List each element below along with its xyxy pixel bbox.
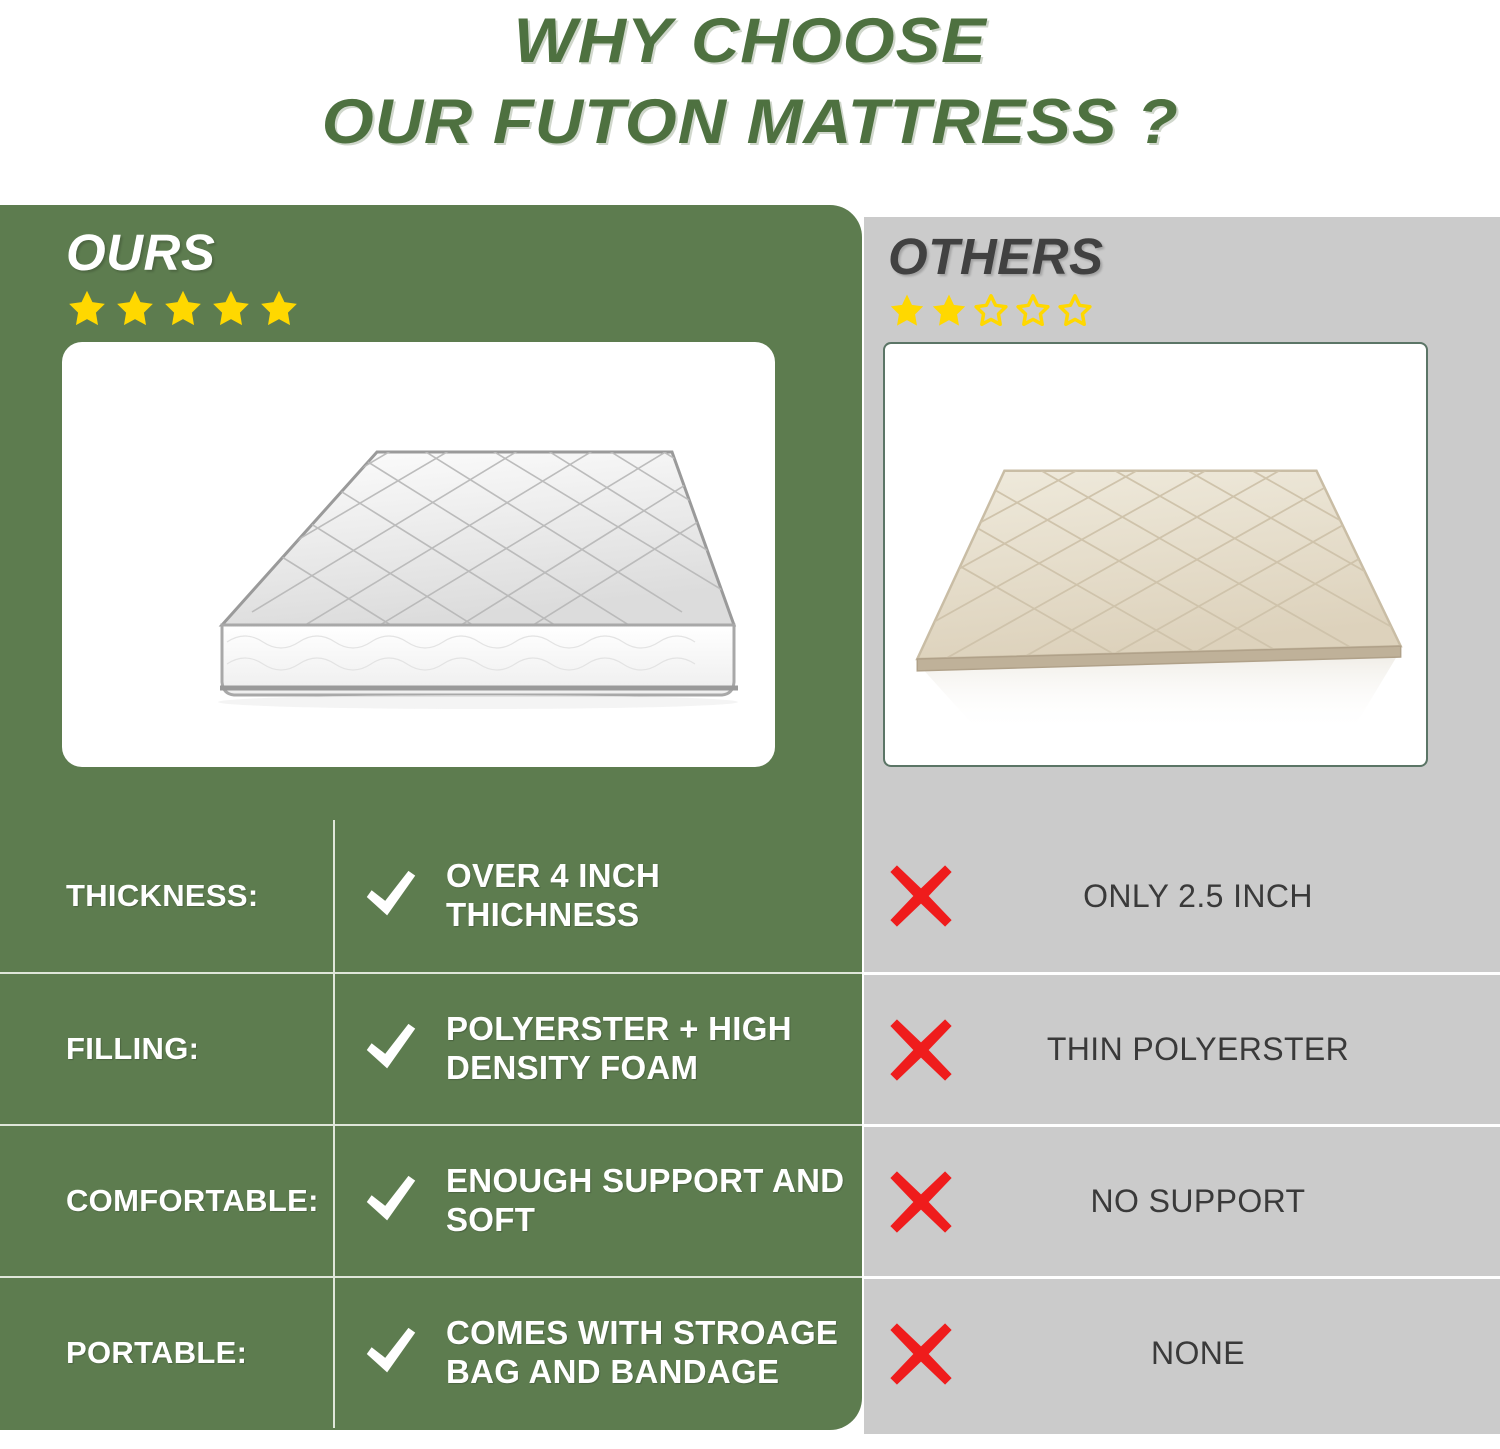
title-line-1: WHY CHOOSE bbox=[513, 10, 986, 73]
row-divider-vertical bbox=[333, 1278, 335, 1428]
check-icon bbox=[360, 865, 422, 927]
ours-feature-table: THICKNESS: OVER 4 INCH THICHNESS FILLING… bbox=[0, 820, 862, 1428]
ours-panel: OURS bbox=[0, 205, 862, 1430]
cross-icon bbox=[886, 1167, 956, 1237]
row-value-text: NONE bbox=[956, 1335, 1500, 1372]
row-label: FILLING: bbox=[0, 1031, 333, 1067]
others-heading: OTHERS bbox=[888, 231, 1104, 282]
row-value-ours: OVER 4 INCH THICHNESS bbox=[333, 857, 862, 935]
row-value-ours: ENOUGH SUPPORT AND SOFT bbox=[333, 1162, 862, 1240]
star-filled-icon bbox=[162, 288, 204, 330]
row-label: THICKNESS: bbox=[0, 878, 333, 914]
row-divider-vertical bbox=[333, 820, 335, 972]
star-filled-icon bbox=[930, 292, 968, 330]
star-filled-icon bbox=[210, 288, 252, 330]
row-label: COMFORTABLE: bbox=[0, 1183, 333, 1219]
row-value-ours: COMES WITH STROAGE BAG AND BANDAGE bbox=[333, 1314, 862, 1392]
table-row: NO SUPPORT bbox=[864, 1124, 1500, 1276]
row-value-text: NO SUPPORT bbox=[956, 1183, 1500, 1220]
star-outline-icon bbox=[1056, 292, 1094, 330]
star-filled-icon bbox=[66, 288, 108, 330]
row-value-text: COMES WITH STROAGE BAG AND BANDAGE bbox=[446, 1314, 862, 1392]
table-row: COMFORTABLE: ENOUGH SUPPORT AND SOFT bbox=[0, 1124, 862, 1276]
check-icon bbox=[360, 1170, 422, 1232]
row-value-text: OVER 4 INCH THICHNESS bbox=[446, 857, 862, 935]
ours-header: OURS bbox=[66, 227, 300, 330]
table-row: NONE bbox=[864, 1276, 1500, 1428]
page-title: WHY CHOOSE OUR FUTON MATTRESS ? bbox=[0, 0, 1500, 200]
star-outline-icon bbox=[972, 292, 1010, 330]
comparison-panels: OURS bbox=[0, 205, 1500, 1445]
cross-icon bbox=[886, 861, 956, 931]
row-value-ours: POLYERSTER + HIGH DENSITY FOAM bbox=[333, 1010, 862, 1088]
row-value-text: THIN POLYERSTER bbox=[956, 1031, 1500, 1068]
table-row: THIN POLYERSTER bbox=[864, 972, 1500, 1124]
cross-icon bbox=[886, 1015, 956, 1085]
others-header: OTHERS bbox=[888, 231, 1104, 330]
ours-star-rating bbox=[66, 288, 300, 330]
row-value-text: POLYERSTER + HIGH DENSITY FOAM bbox=[446, 1010, 862, 1088]
others-product-image bbox=[883, 342, 1428, 767]
star-filled-icon bbox=[114, 288, 156, 330]
row-divider-vertical bbox=[333, 974, 335, 1124]
ours-product-image bbox=[62, 342, 775, 767]
title-line-2: OUR FUTON MATTRESS ? bbox=[321, 91, 1178, 154]
table-row: PORTABLE: COMES WITH STROAGE BAG AND BAN… bbox=[0, 1276, 862, 1428]
row-label: PORTABLE: bbox=[0, 1335, 333, 1371]
cross-icon bbox=[886, 1319, 956, 1389]
row-value-text: ONLY 2.5 INCH bbox=[956, 878, 1500, 915]
row-value-text: ENOUGH SUPPORT AND SOFT bbox=[446, 1162, 862, 1240]
table-row: ONLY 2.5 INCH bbox=[864, 820, 1500, 972]
ours-heading: OURS bbox=[66, 227, 300, 278]
check-icon bbox=[360, 1018, 422, 1080]
star-filled-icon bbox=[258, 288, 300, 330]
others-panel: OTHERS bbox=[864, 217, 1500, 1434]
others-star-rating bbox=[888, 292, 1104, 330]
row-divider-vertical bbox=[333, 1126, 335, 1276]
star-filled-icon bbox=[888, 292, 926, 330]
table-row: FILLING: POLYERSTER + HIGH DENSITY FOAM bbox=[0, 972, 862, 1124]
check-icon bbox=[360, 1322, 422, 1384]
table-row: THICKNESS: OVER 4 INCH THICHNESS bbox=[0, 820, 862, 972]
others-feature-table: ONLY 2.5 INCH THIN POLYERSTER NO SUPPORT… bbox=[864, 820, 1500, 1428]
star-outline-icon bbox=[1014, 292, 1052, 330]
